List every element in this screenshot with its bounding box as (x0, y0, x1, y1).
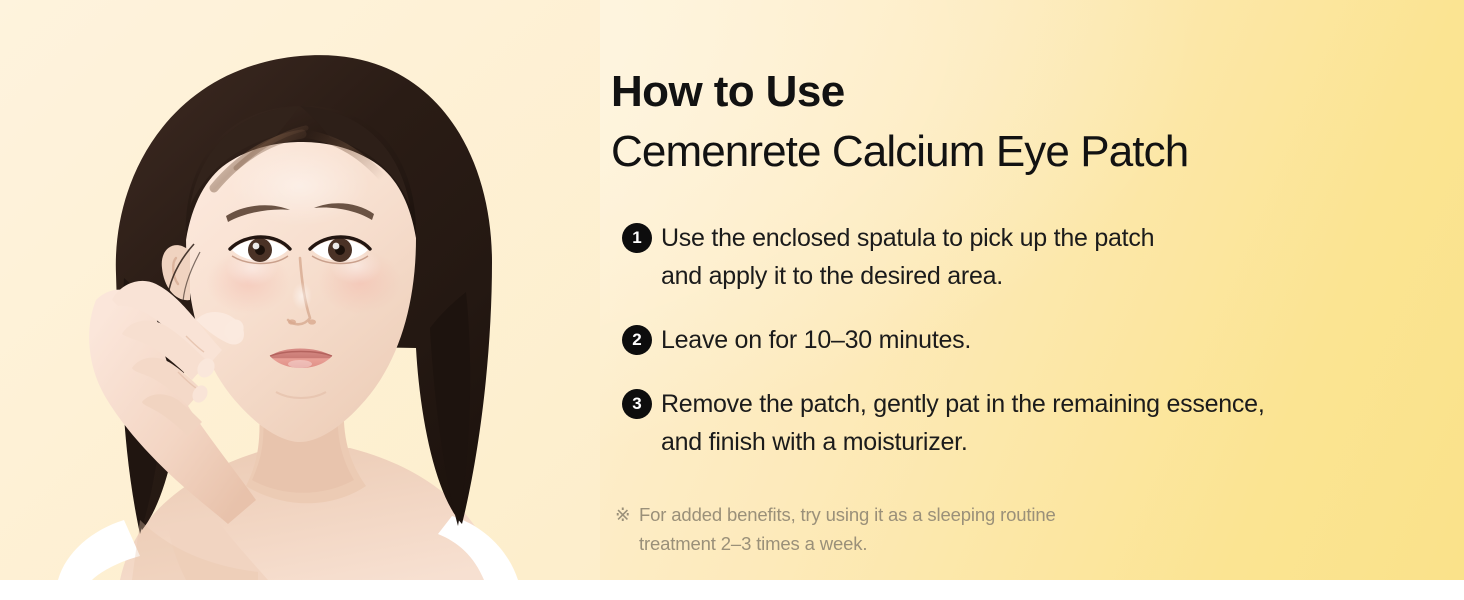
list-item: 2 Leave on for 10–30 minutes. (613, 321, 1403, 359)
step-number-badge: 3 (622, 389, 652, 419)
step-line: Use the enclosed spatula to pick up the … (661, 224, 1154, 252)
step-number-badge: 2 (622, 325, 652, 355)
step-text: Use the enclosed spatula to pick up the … (661, 219, 1403, 295)
list-item: 1 Use the enclosed spatula to pick up th… (613, 219, 1403, 295)
how-to-use-banner: How to Use Cemenrete Calcium Eye Patch 1… (0, 0, 1464, 600)
instructions-panel: How to Use Cemenrete Calcium Eye Patch 1… (611, 0, 1411, 580)
steps-list: 1 Use the enclosed spatula to pick up th… (613, 219, 1403, 461)
step-text: Leave on for 10–30 minutes. (661, 321, 1403, 359)
model-photo (0, 0, 600, 580)
page-title: How to Use Cemenrete Calcium Eye Patch (611, 62, 1411, 182)
bottom-white-strip (0, 580, 1464, 600)
list-item: 3 Remove the patch, gently pat in the re… (613, 385, 1403, 461)
headline-line-2: Cemenrete Calcium Eye Patch (611, 122, 1411, 182)
reference-mark-icon: ※ (615, 500, 630, 529)
footnote: ※ For added benefits, try using it as a … (615, 500, 1275, 558)
step-line: and apply it to the desired area. (661, 262, 1003, 290)
step-line: Leave on for 10–30 minutes. (661, 326, 971, 354)
model-photo-illustration (0, 0, 600, 580)
step-text: Remove the patch, gently pat in the rema… (661, 385, 1403, 461)
step-line: and finish with a moisturizer. (661, 428, 968, 456)
headline-line-1: How to Use (611, 67, 845, 116)
step-line: Remove the patch, gently pat in the rema… (661, 390, 1265, 418)
footnote-line: treatment 2–3 times a week. (639, 533, 867, 554)
step-number-badge: 1 (622, 223, 652, 253)
footnote-text: For added benefits, try using it as a sl… (615, 500, 1275, 558)
footnote-line: For added benefits, try using it as a sl… (639, 504, 1056, 525)
